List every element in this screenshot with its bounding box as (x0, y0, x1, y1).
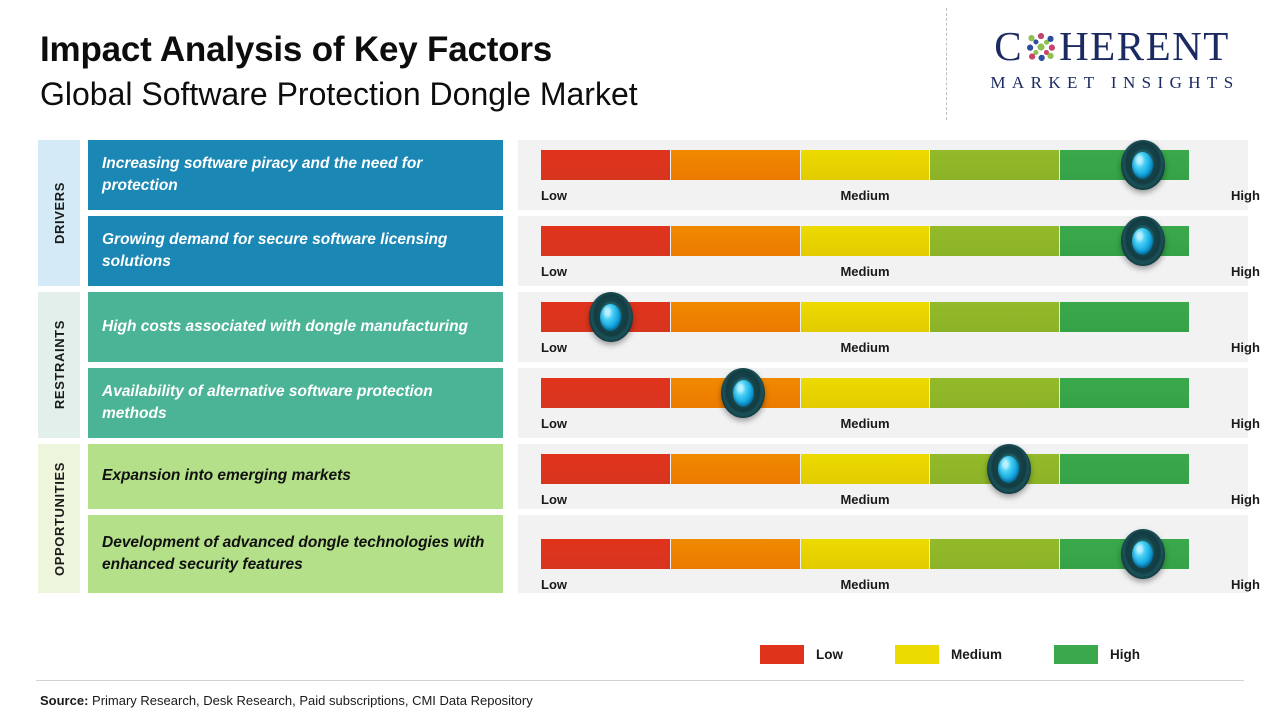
gauge-track (541, 150, 1189, 180)
scale-label-medium: Medium (840, 416, 889, 431)
group-rows: High costs associated with dongle manufa… (80, 292, 1280, 438)
impact-gauge[interactable]: Low Medium High (518, 368, 1248, 438)
group-rows: Expansion into emerging markets (80, 444, 1280, 593)
gauge-segment-medium-high (930, 150, 1059, 180)
group-label-opportunities: OPPORTUNITIES (38, 444, 80, 593)
legend-label-medium: Medium (951, 647, 1002, 662)
gauge-track (541, 378, 1189, 408)
impact-gauge[interactable]: Low Medium High (518, 216, 1248, 286)
scale-label-low: Low (541, 340, 567, 355)
group-restraints: RESTRAINTS High costs associated with do… (0, 292, 1280, 438)
gauge-segment-low-medium (671, 302, 800, 332)
scale-label-high: High (1231, 577, 1260, 592)
gauge-scale: Low Medium High (541, 577, 1189, 594)
gauge-segment-medium (801, 539, 929, 569)
factor-card[interactable]: Growing demand for secure software licen… (88, 216, 503, 286)
gauge-marker-bead (1132, 228, 1153, 255)
logo-letter-c: C (994, 26, 1023, 67)
title-block: Impact Analysis of Key Factors Global So… (40, 30, 638, 114)
legend-swatch-medium (895, 645, 939, 664)
table-row: Availability of alternative software pro… (80, 368, 1280, 438)
gauge-segment-medium-high (930, 539, 1059, 569)
impact-gauge[interactable]: Low Medium High (518, 292, 1248, 362)
scale-label-medium: Medium (840, 577, 889, 592)
gauge-marker[interactable] (1121, 216, 1165, 266)
table-row: Expansion into emerging markets (80, 444, 1280, 509)
factor-card[interactable]: High costs associated with dongle manufa… (88, 292, 503, 362)
gauge-segment-high (1060, 302, 1189, 332)
gauge-segment-medium (801, 378, 929, 408)
legend-swatch-low (760, 645, 804, 664)
gauge-marker-bead (1132, 152, 1153, 179)
gauge-scale: Low Medium High (541, 340, 1189, 357)
scale-label-high: High (1231, 340, 1260, 355)
gauge-marker[interactable] (589, 292, 633, 342)
gauge-segment-high (1060, 378, 1189, 408)
scale-label-high: High (1231, 416, 1260, 431)
impact-matrix: DRIVERS Increasing software piracy and t… (0, 140, 1280, 599)
gauge-segment-low (541, 150, 670, 180)
gauge-segment-medium-high (930, 226, 1059, 256)
source-note: Source: Primary Research, Desk Research,… (40, 693, 533, 708)
factor-card[interactable]: Increasing software piracy and the need … (88, 140, 503, 210)
impact-gauge[interactable]: Low Medium High (518, 515, 1248, 593)
logo-wordmark: C HERENT (962, 26, 1262, 67)
gauge-segment-low (541, 454, 670, 484)
gauge-marker-bead (733, 380, 754, 407)
table-row: Growing demand for secure software licen… (80, 216, 1280, 286)
source-label: Source: (40, 693, 88, 708)
gauge-marker-bead (600, 304, 621, 331)
gauge-segment-low (541, 226, 670, 256)
group-label-restraints: RESTRAINTS (38, 292, 80, 438)
table-row: Development of advanced dongle technolog… (80, 515, 1280, 593)
gauge-marker[interactable] (1121, 529, 1165, 579)
scale-label-low: Low (541, 264, 567, 279)
dotted-globe-icon (1024, 30, 1058, 64)
group-drivers: DRIVERS Increasing software piracy and t… (0, 140, 1280, 286)
gauge-marker[interactable] (987, 444, 1031, 494)
logo-tagline: MARKET INSIGHTS (962, 73, 1262, 93)
group-label-text: DRIVERS (52, 182, 67, 244)
gauge-segment-low-medium (671, 150, 800, 180)
gauge-track (541, 302, 1189, 332)
gauge-scale: Low Medium High (541, 416, 1189, 433)
gauge-marker-bead (1132, 541, 1153, 568)
legend-label-high: High (1110, 647, 1140, 662)
legend-label-low: Low (816, 647, 843, 662)
scale-label-low: Low (541, 416, 567, 431)
group-label-text: OPPORTUNITIES (52, 462, 67, 576)
scale-label-high: High (1231, 188, 1260, 203)
scale-label-high: High (1231, 492, 1260, 507)
impact-gauge[interactable]: Low Medium High (518, 140, 1248, 210)
gauge-segment-low-medium (671, 454, 800, 484)
gauge-segment-low-medium (671, 539, 800, 569)
gauge-segment-low-medium (671, 226, 800, 256)
scale-label-low: Low (541, 188, 567, 203)
gauge-track (541, 539, 1189, 569)
footer-divider (36, 680, 1244, 681)
group-rows: Increasing software piracy and the need … (80, 140, 1280, 286)
scale-label-medium: Medium (840, 340, 889, 355)
table-row: Increasing software piracy and the need … (80, 140, 1280, 210)
header-divider (946, 8, 947, 120)
factor-card[interactable]: Development of advanced dongle technolog… (88, 515, 503, 593)
legend: Low Medium High (760, 645, 1140, 664)
group-opportunities: OPPORTUNITIES Expansion into emerging ma… (0, 444, 1280, 593)
gauge-scale: Low Medium High (541, 492, 1189, 509)
gauge-segment-medium-high (930, 302, 1059, 332)
gauge-segment-high (1060, 454, 1189, 484)
legend-item-high: High (1054, 645, 1140, 664)
gauge-marker-bead (998, 456, 1019, 483)
scale-label-medium: Medium (840, 188, 889, 203)
gauge-segment-medium-high (930, 378, 1059, 408)
gauge-track (541, 226, 1189, 256)
scale-label-high: High (1231, 264, 1260, 279)
group-label-drivers: DRIVERS (38, 140, 80, 286)
page-title: Impact Analysis of Key Factors (40, 30, 638, 70)
scale-label-low: Low (541, 492, 567, 507)
impact-gauge[interactable]: Low Medium High (518, 444, 1248, 509)
source-text: Primary Research, Desk Research, Paid su… (88, 693, 532, 708)
gauge-segment-medium (801, 150, 929, 180)
gauge-segment-low (541, 378, 670, 408)
logo-letters-rest: HERENT (1059, 26, 1230, 67)
gauge-marker[interactable] (1121, 140, 1165, 190)
gauge-scale: Low Medium High (541, 264, 1189, 281)
scale-label-low: Low (541, 577, 567, 592)
factor-card[interactable]: Expansion into emerging markets (88, 444, 503, 509)
page-subtitle: Global Software Protection Dongle Market (40, 74, 638, 114)
slide-canvas: Impact Analysis of Key Factors Global So… (0, 0, 1280, 720)
factor-card[interactable]: Availability of alternative software pro… (88, 368, 503, 438)
gauge-segment-low (541, 539, 670, 569)
gauge-track (541, 454, 1189, 484)
gauge-segment-medium (801, 302, 929, 332)
table-row: High costs associated with dongle manufa… (80, 292, 1280, 362)
gauge-marker[interactable] (721, 368, 765, 418)
legend-swatch-high (1054, 645, 1098, 664)
scale-label-medium: Medium (840, 264, 889, 279)
legend-item-low: Low (760, 645, 843, 664)
scale-label-medium: Medium (840, 492, 889, 507)
gauge-scale: Low Medium High (541, 188, 1189, 205)
company-logo: C HERENT MARKET INSIGHTS (962, 26, 1262, 93)
gauge-segment-medium (801, 226, 929, 256)
gauge-segment-medium (801, 454, 929, 484)
group-label-text: RESTRAINTS (52, 320, 67, 409)
legend-item-medium: Medium (895, 645, 1002, 664)
